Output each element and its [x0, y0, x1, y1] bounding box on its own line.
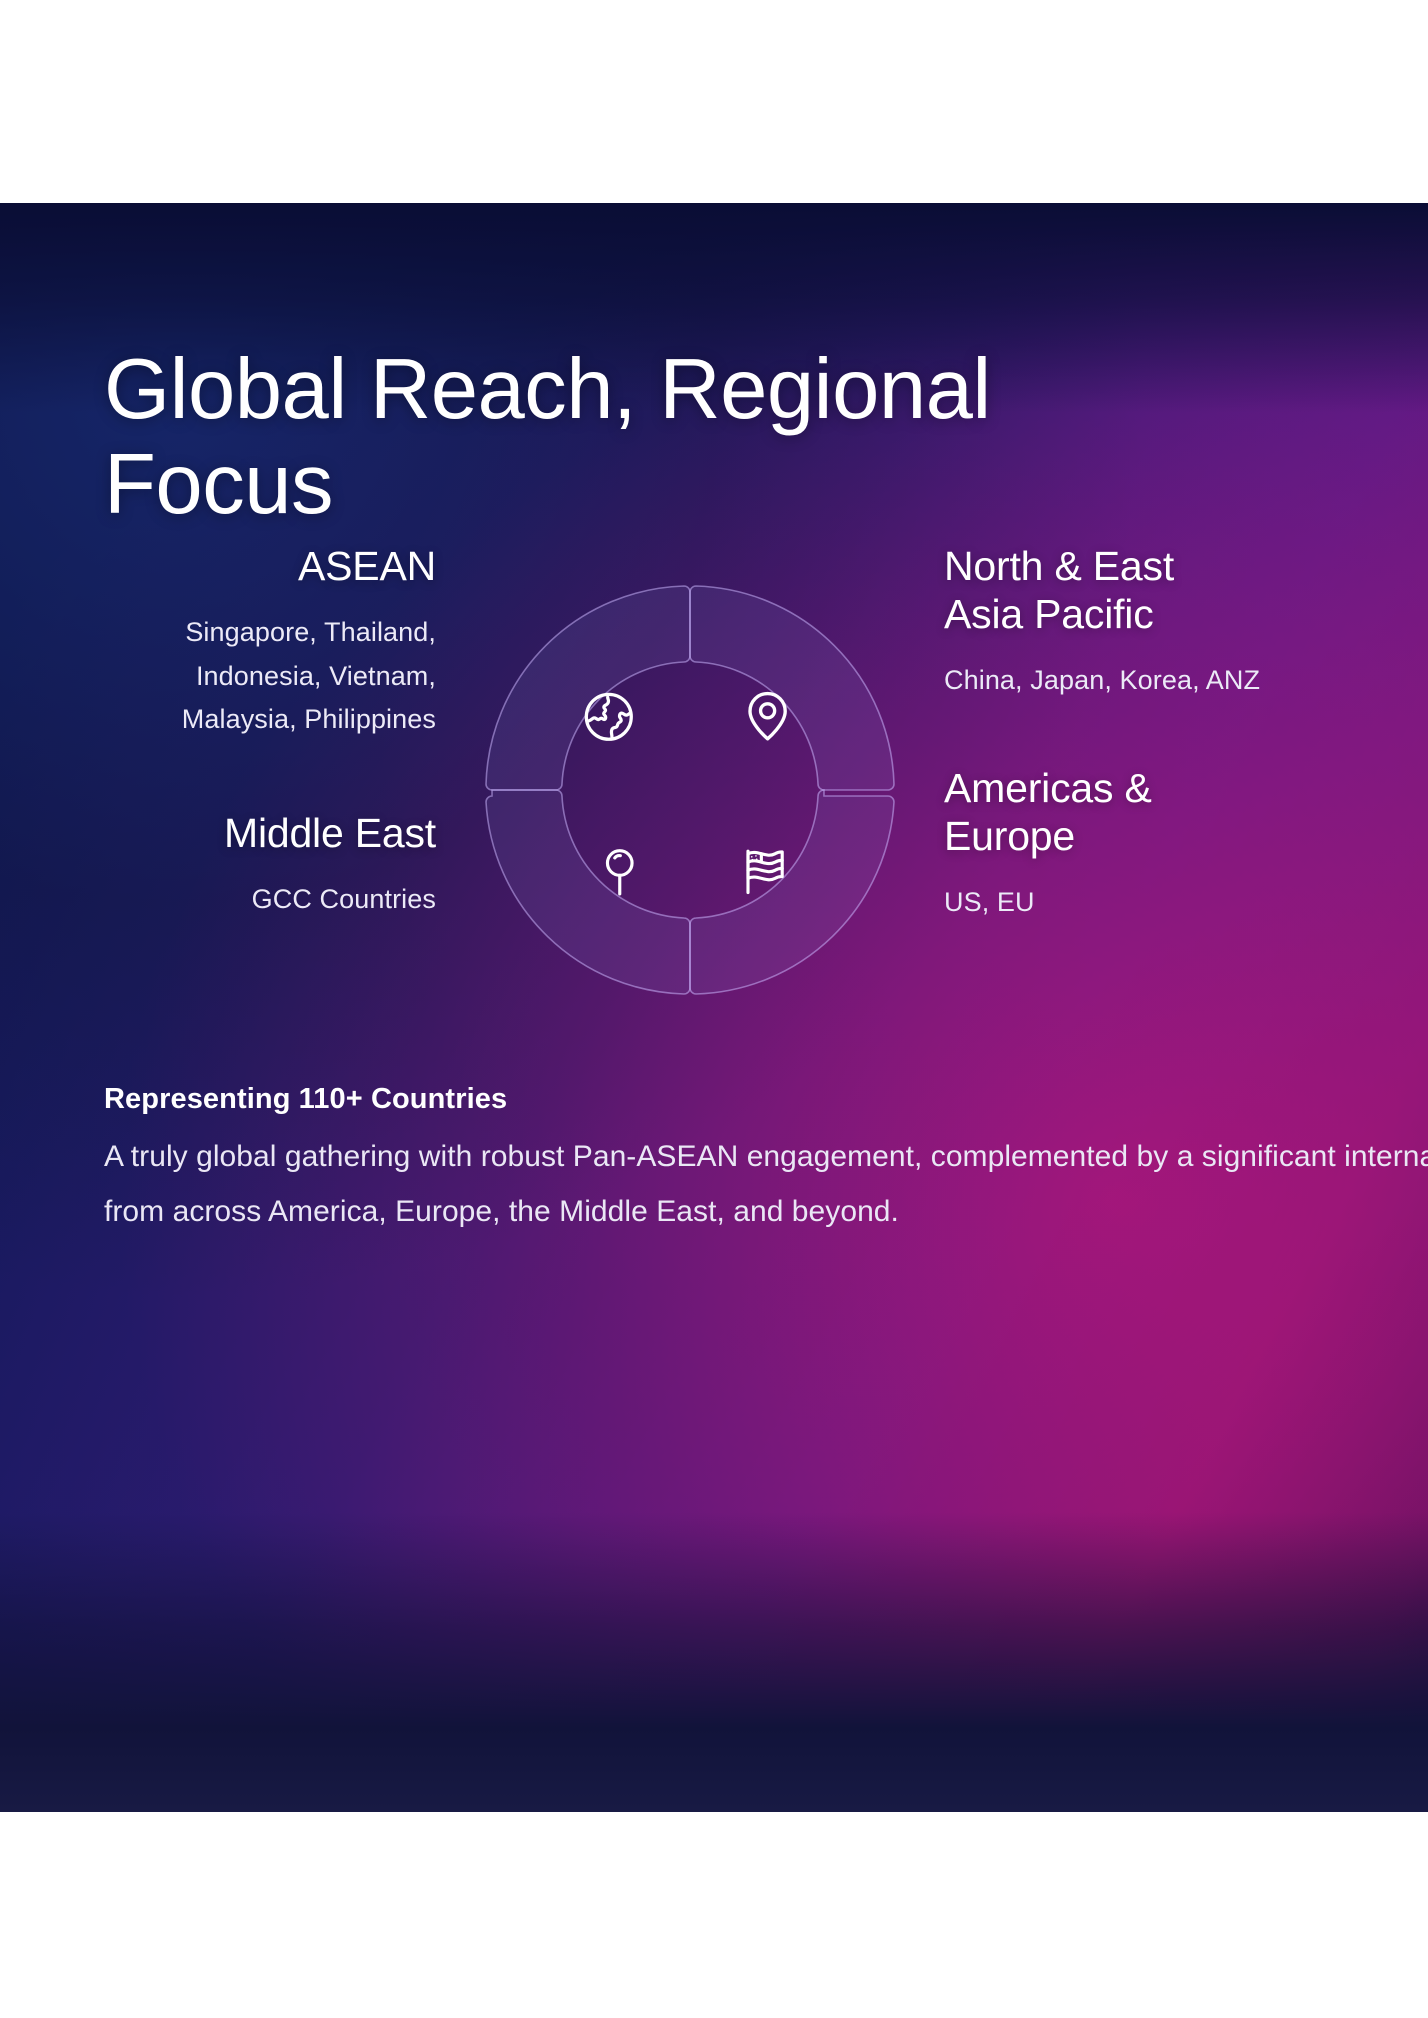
donut-segment-top-left	[486, 586, 690, 790]
summary-body: A truly global gathering with robust Pan…	[104, 1130, 1428, 1239]
location-pin-balloon-icon	[607, 851, 632, 894]
region-asean: ASEAN Singapore, Thailand, Indonesia, Vi…	[104, 543, 436, 742]
donut-segment-bottom-left	[486, 790, 690, 994]
regions-column-left: ASEAN Singapore, Thailand, Indonesia, Vi…	[104, 543, 436, 922]
donut-segment-top-right	[690, 586, 894, 790]
donut-segment-bottom-right	[690, 790, 894, 994]
region-title-north-east-asia-pacific: North & East Asia Pacific	[944, 543, 1276, 639]
summary-block: Representing 110+ Countries A truly glob…	[104, 1083, 1428, 1239]
region-title-middle-east: Middle East	[104, 810, 436, 858]
regions-column-right: North & East Asia Pacific China, Japan, …	[944, 543, 1276, 924]
region-countries-middle-east: GCC Countries	[104, 878, 436, 922]
page-title: Global Reach, Regional Focus	[104, 342, 1428, 532]
summary-headline: Representing 110+ Countries	[104, 1083, 1428, 1116]
region-countries-north-east-asia-pacific: China, Japan, Korea, ANZ	[944, 659, 1276, 703]
region-title-asean: ASEAN	[104, 543, 436, 591]
region-donut-diagram	[480, 580, 900, 1000]
region-middle-east: Middle East GCC Countries	[104, 810, 436, 922]
map-pin-icon	[750, 694, 785, 739]
region-north-east-asia-pacific: North & East Asia Pacific China, Japan, …	[944, 543, 1276, 703]
region-countries-asean: Singapore, Thailand, Indonesia, Vietnam,…	[104, 611, 436, 742]
region-title-americas-europe: Americas & Europe	[944, 765, 1276, 861]
region-countries-americas-europe: US, EU	[944, 881, 1276, 925]
globe-icon	[586, 694, 631, 739]
hero-panel: Global Reach, Regional Focus ASEAN Singa…	[0, 203, 1428, 1812]
region-americas-europe: Americas & Europe US, EU	[944, 765, 1276, 925]
